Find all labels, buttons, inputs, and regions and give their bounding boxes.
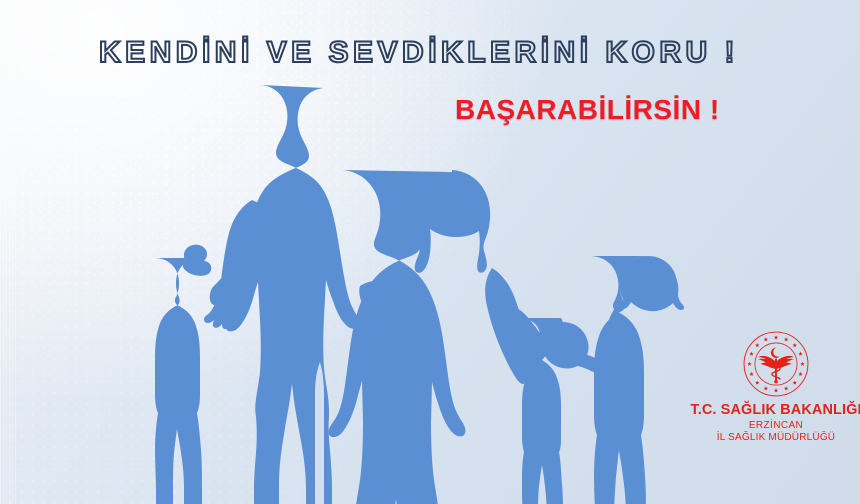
ministry-province: ERZİNCAN [688, 420, 860, 431]
adult-male-leg-gap [315, 362, 324, 504]
child-right-silhouette [590, 256, 684, 504]
adult-female-hair [413, 170, 490, 273]
page-subheadline: BAŞARABİLİRSİN ! [455, 94, 785, 126]
ministry-logo-text: T.C. SAĞLIK BAKANLIĞI ERZİNCAN İL SAĞLIK… [688, 402, 860, 443]
ministry-directorate: İL SAĞLIK MÜDÜRLÜĞÜ [688, 432, 860, 443]
page-headline: KENDİNİ VE SEVDİKLERİNİ KORU ! [0, 36, 860, 70]
turkish-ministry-of-health-emblem-icon [742, 330, 810, 398]
child-left-hair [183, 245, 211, 276]
adult-male-silhouette [226, 85, 360, 504]
ministry-logo: T.C. SAĞLIK BAKANLIĞI ERZİNCAN İL SAĞLIK… [688, 330, 860, 470]
ministry-name: T.C. SAĞLIK BAKANLIĞI [688, 402, 860, 418]
child-right-hair [619, 256, 684, 311]
poster-canvas: KENDİNİ VE SEVDİKLERİNİ KORU ! BAŞARABİL… [0, 0, 860, 504]
